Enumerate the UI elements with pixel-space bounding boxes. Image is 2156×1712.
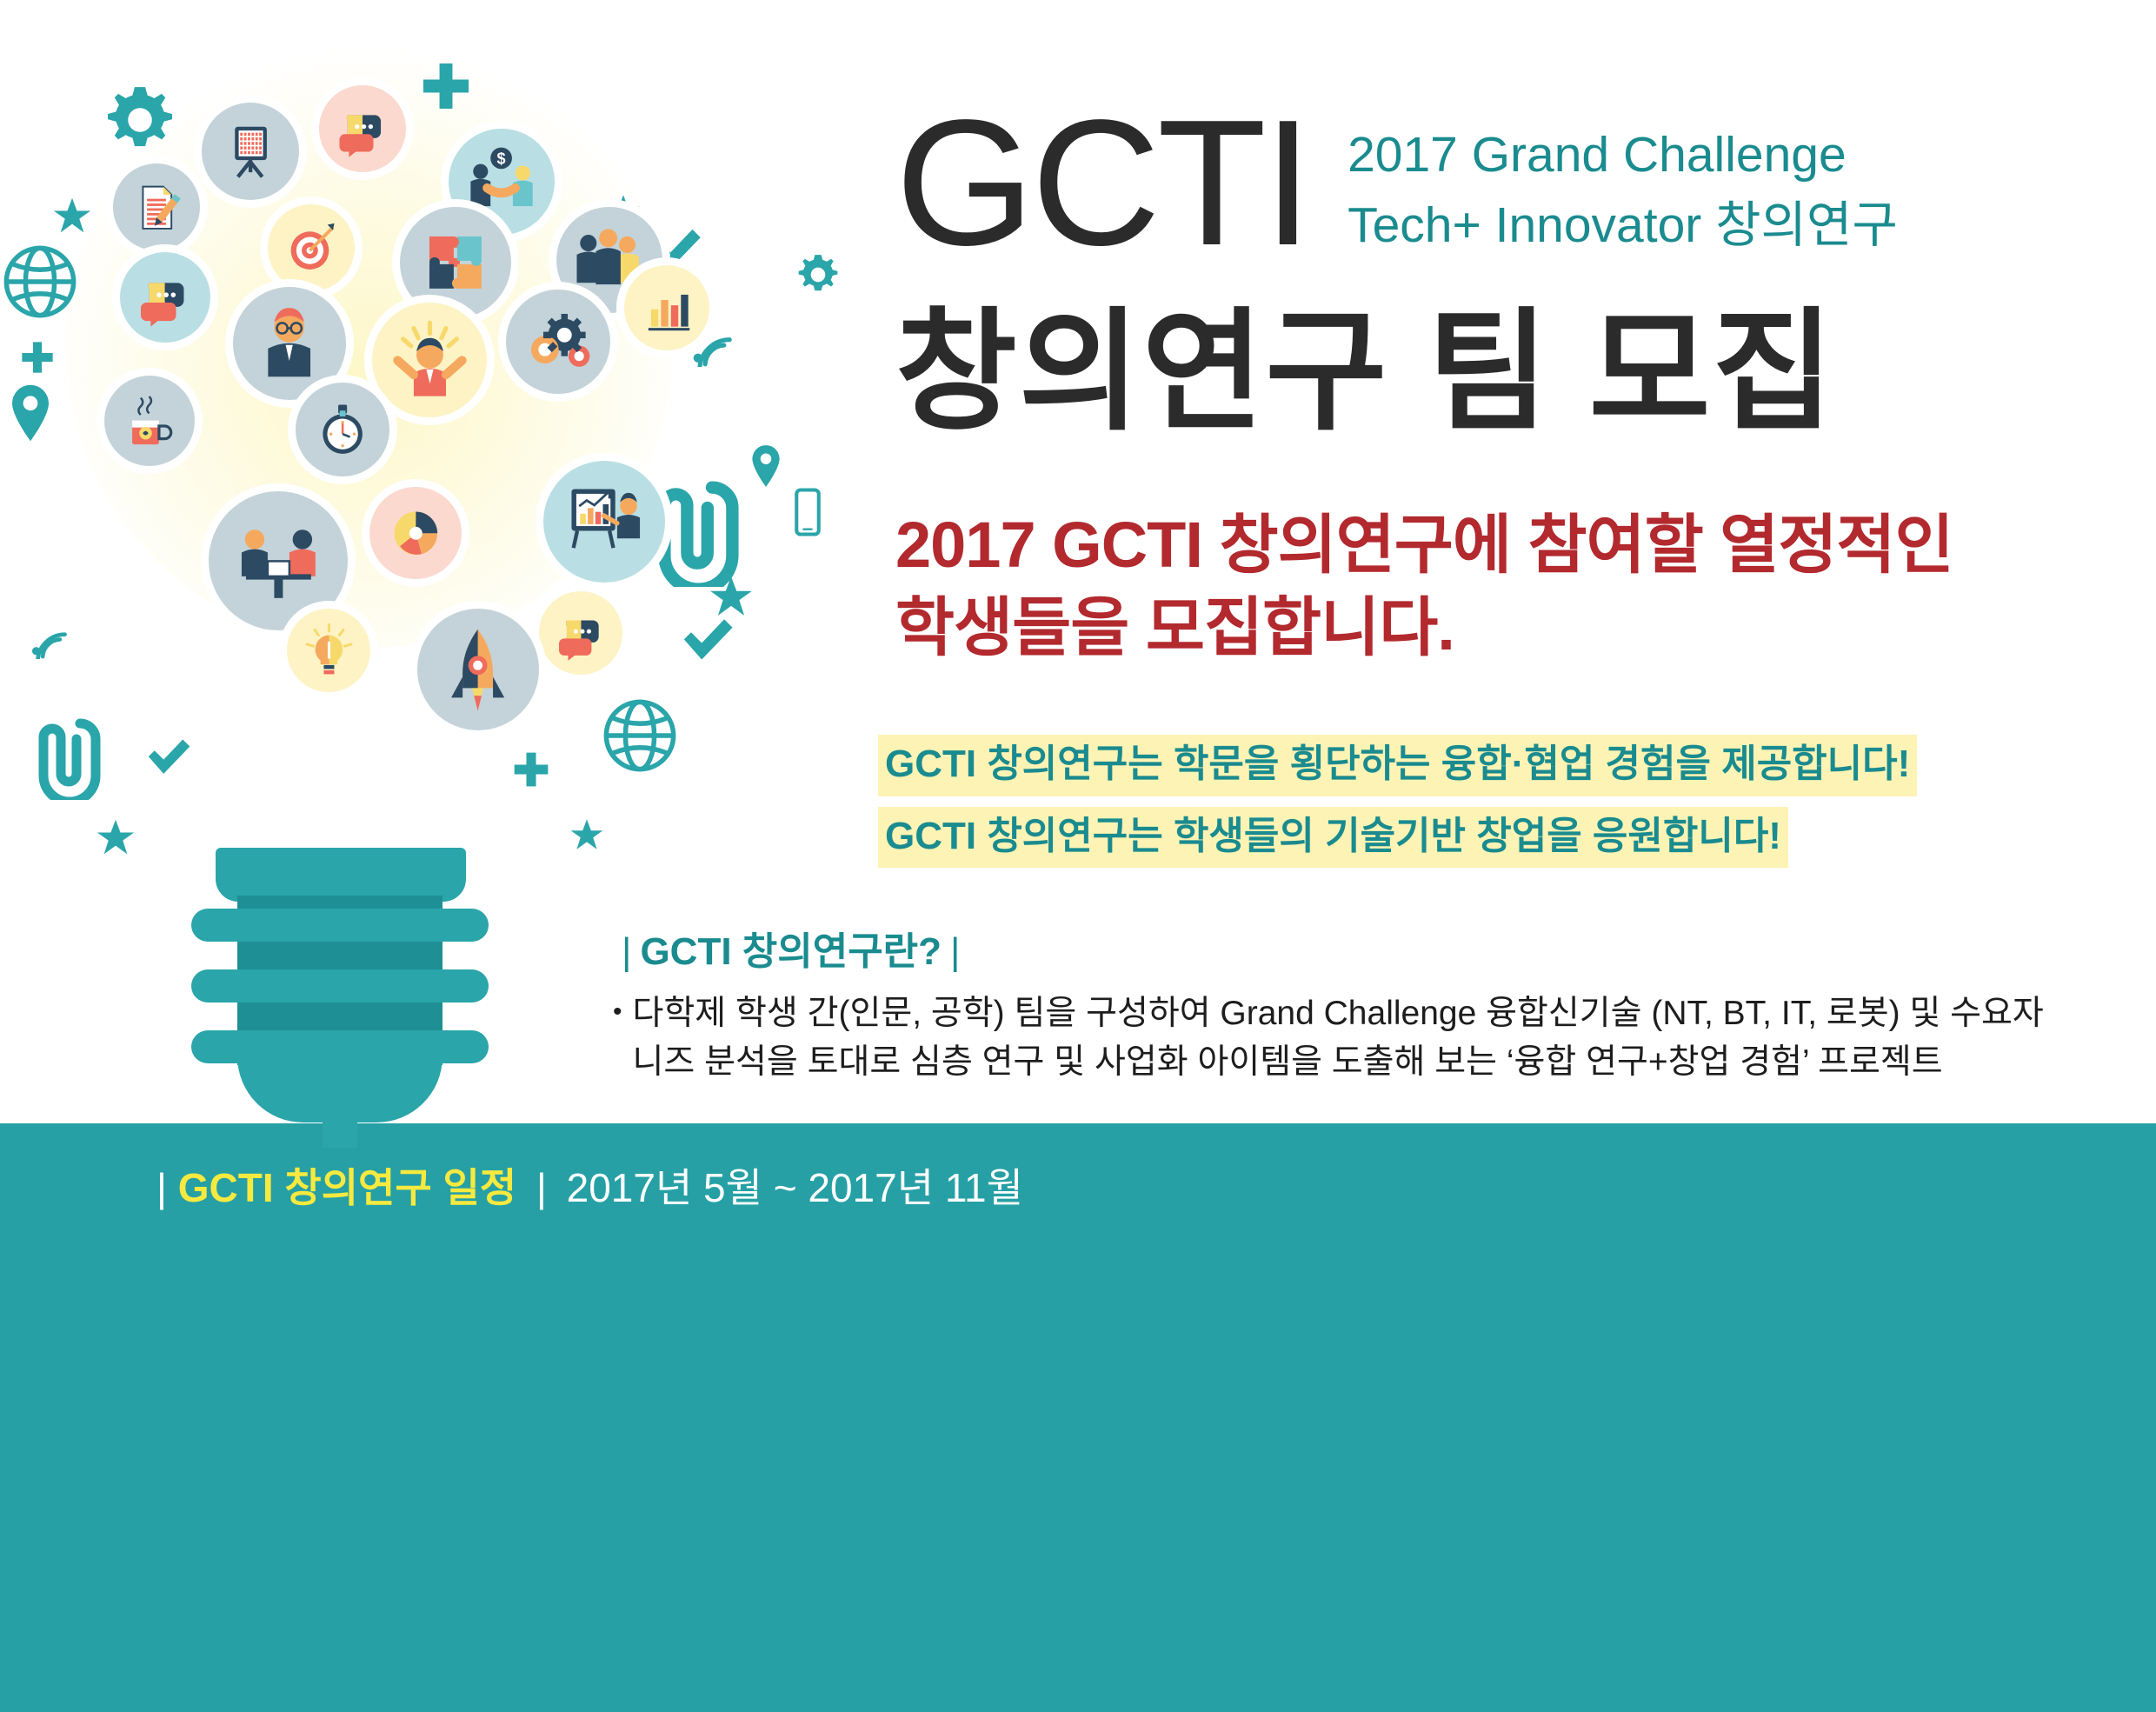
star-icon [52,196,92,236]
board-glyph [212,113,288,189]
star-icon [96,817,136,857]
heading-pipe-left: | [613,930,640,973]
bar-chart-icon [624,265,709,350]
target-glyph [277,214,345,282]
meeting-glyph [224,507,333,616]
gcti-tagline: 2017 Grand Challenge Tech+ Innovator 창의연… [1347,120,1898,261]
subheadline-line-2: 학생들을 모집합니다. [895,587,1953,669]
chart-glyph [634,275,700,341]
gears-glyph [517,301,599,383]
star-icon [569,817,604,852]
stopwatch-icon [296,383,389,476]
globe-icon [600,696,680,776]
plus-icon [19,339,56,376]
poster-canvas: $ GCTI 2017 Grand Challenge Tech+ Innova… [0,0,2156,1712]
highlight-item: GCTI 창의연구는 학문을 횡단하는 융합·협업 경험을 제공합니다! [878,735,1917,796]
check-icon [143,730,194,781]
highlight-list: GCTI 창의연구는 학문을 횡단하는 융합·협업 경험을 제공합니다! GCT… [878,735,1917,878]
plus-icon [419,59,473,113]
chat-glyph [130,262,200,332]
plus-icon [511,749,551,789]
bulb-thread-ring [191,909,489,942]
coffee-glyph [114,385,184,456]
bullet-glyph: • [613,989,622,1087]
timeline: 4월4,5월5월6월8월10월11월1월창의연구팀/개인 신청창의연구설명회& … [0,1123,2156,1712]
bulb-thread-ring [191,969,489,1003]
globe-icon [0,242,80,322]
gear-icon [795,252,841,297]
man-glyph [245,299,333,387]
cheer-glyph [385,316,475,405]
highlight-item: GCTI 창의연구는 학생들의 기술기반 창업을 응원합니다! [878,807,1788,869]
about-line-2: 니즈 분석을 토대로 심층 연구 및 사업화 아이템을 도출해 보는 ‘융합 연… [633,1038,2044,1087]
businessman-glasses-icon [233,287,346,400]
doc-glyph [123,173,190,241]
about-body: • 다학제 학생 간(인문, 공학) 팀을 구성하여 Grand Challen… [613,989,2152,1087]
pie-chart-icon [369,487,462,579]
gears-cogs-icon [506,290,610,394]
check-icon [678,609,737,668]
speech-bubbles-icon-3 [539,591,622,675]
heading-pipe-right: | [942,930,968,973]
chat-glyph [549,601,614,666]
tagline-line-2: Tech+ Innovator 창의연구 [1347,190,1898,261]
speech-bubbles-icon-2 [120,252,210,343]
target-arrow-icon [268,204,355,291]
about-text-lines: 다학제 학생 간(인문, 공학) 팀을 구성하여 Grand Challenge… [633,989,2044,1087]
document-pencil-icon [113,163,200,250]
coffee-cup-icon [104,376,195,466]
about-line-1: 다학제 학생 간(인문, 공학) 팀을 구성하여 Grand Challenge… [633,989,2044,1038]
present-glyph [556,474,651,569]
gcti-logo-text: GCTI [895,104,1309,262]
svg-text:$: $ [497,150,506,168]
subheadline: 2017 GCTI 창의연구에 참여할 열정적인 학생들을 모집합니다. [895,504,1953,669]
chat-glyph [329,95,396,163]
celebrating-person-icon [372,303,487,417]
paperclip-icon [19,713,106,800]
rocket-glyph [430,622,525,716]
gear-icon [103,83,177,157]
subheadline-line-1: 2017 GCTI 창의연구에 참여할 열정적인 [895,504,1953,587]
pie-glyph [380,497,452,570]
phone-icon [782,487,833,537]
about-section: |GCTI 창의연구란?| • 다학제 학생 간(인문, 공학) 팀을 구성하여… [613,920,2152,1087]
bulb-screw-base [178,848,502,1143]
about-heading-text: GCTI 창의연구란? [640,930,942,973]
presenter-chart-icon [543,461,665,583]
title-row: GCTI 2017 Grand Challenge Tech+ Innovato… [895,104,1898,262]
speech-bubbles-icon [319,85,406,172]
about-heading: |GCTI 창의연구란?| [613,920,2152,976]
presentation-board-icon [202,103,299,200]
bulb-glyph [296,618,362,683]
watch-glyph [306,393,379,466]
wifi-icon [26,609,77,659]
page-title: 창의연구 팀 모집 [895,306,1835,438]
puzzle-glyph [412,219,499,306]
map-pin-icon [743,443,789,489]
map-pin-icon [0,383,61,443]
bulb-cap-top [216,848,466,902]
rocket-launch-icon [417,609,539,730]
puzzle-pieces-icon [400,207,511,318]
tagline-line-1: 2017 Grand Challenge [1347,120,1898,190]
idea-bulb-icon [287,609,370,692]
